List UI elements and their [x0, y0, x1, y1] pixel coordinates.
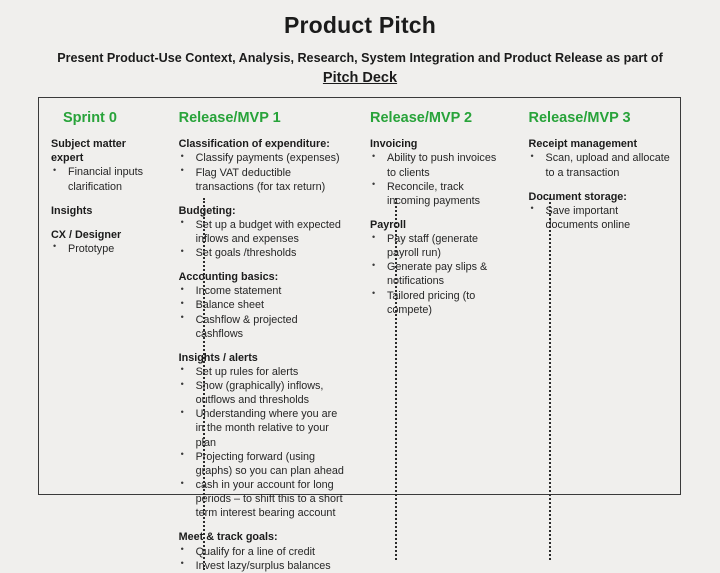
bullet-list: Classify payments (expenses)Flag VAT ded… [179, 151, 348, 193]
block-title: Subject matter expert [51, 137, 157, 165]
content-block: PayrollPay staff (generate payroll run)G… [370, 218, 502, 317]
list-item: Financial inputs clarification [51, 165, 157, 193]
list-item: Reconcile, track incoming payments [370, 180, 502, 208]
list-item: Flag VAT deductible transactions (for ta… [179, 166, 348, 194]
bullet-list: Ability to push invoices to clientsRecon… [370, 151, 502, 208]
list-item: Classify payments (expenses) [179, 151, 348, 165]
content-block: Subject matter expertFinancial inputs cl… [51, 137, 157, 193]
list-item: Pay staff (generate payroll run) [370, 232, 502, 260]
roadmap-board: Sprint 0Subject matter expertFinancial i… [38, 97, 681, 495]
block-title: Receipt management [529, 137, 672, 151]
subtitle-line-1: Present Product-Use Context, Analysis, R… [57, 51, 663, 65]
column-heading: Sprint 0 [63, 110, 157, 127]
content-block: Insights [51, 204, 157, 218]
bullet-list: Financial inputs clarification [51, 165, 157, 193]
list-item: Tailored pricing (to compete) [370, 289, 502, 317]
roadmap-column-1: Release/MVP 1Classification of expenditu… [165, 98, 356, 494]
page-title: Product Pitch [0, 13, 720, 38]
block-title: Insights [51, 204, 157, 218]
content-block: Receipt managementScan, upload and alloc… [529, 137, 672, 179]
column-divider-2 [395, 198, 397, 560]
list-item: Scan, upload and allocate to a transacti… [529, 151, 672, 179]
block-title: Classification of expenditure: [179, 137, 348, 151]
roadmap-column-0: Sprint 0Subject matter expertFinancial i… [39, 98, 165, 494]
block-title: CX / Designer [51, 228, 157, 242]
column-divider-1 [203, 198, 205, 570]
list-item: Prototype [51, 242, 157, 256]
roadmap-columns: Sprint 0Subject matter expertFinancial i… [39, 98, 680, 494]
roadmap-column-2: Release/MVP 2InvoicingAbility to push in… [356, 98, 510, 494]
list-item: Generate pay slips & notifications [370, 260, 502, 288]
block-title: Payroll [370, 218, 502, 232]
column-heading: Release/MVP 2 [370, 110, 502, 127]
column-divider-3 [549, 198, 551, 560]
bullet-list: Prototype [51, 242, 157, 256]
content-block: Classification of expenditure:Classify p… [179, 137, 348, 193]
content-block: CX / DesignerPrototype [51, 228, 157, 256]
subtitle-line-2: Pitch Deck [323, 70, 397, 86]
block-title: Invoicing [370, 137, 502, 151]
list-item: Ability to push invoices to clients [370, 151, 502, 179]
bullet-list: Pay staff (generate payroll run)Generate… [370, 232, 502, 317]
column-heading: Release/MVP 1 [179, 110, 348, 127]
slide-subtitle: Present Product-Use Context, Analysis, R… [0, 38, 720, 88]
bullet-list: Scan, upload and allocate to a transacti… [529, 151, 672, 179]
content-block: InvoicingAbility to push invoices to cli… [370, 137, 502, 208]
roadmap-column-3: Release/MVP 3Receipt managementScan, upl… [510, 98, 680, 494]
slide-header: Product Pitch Present Product-Use Contex… [0, 0, 720, 89]
column-heading: Release/MVP 3 [529, 110, 672, 127]
